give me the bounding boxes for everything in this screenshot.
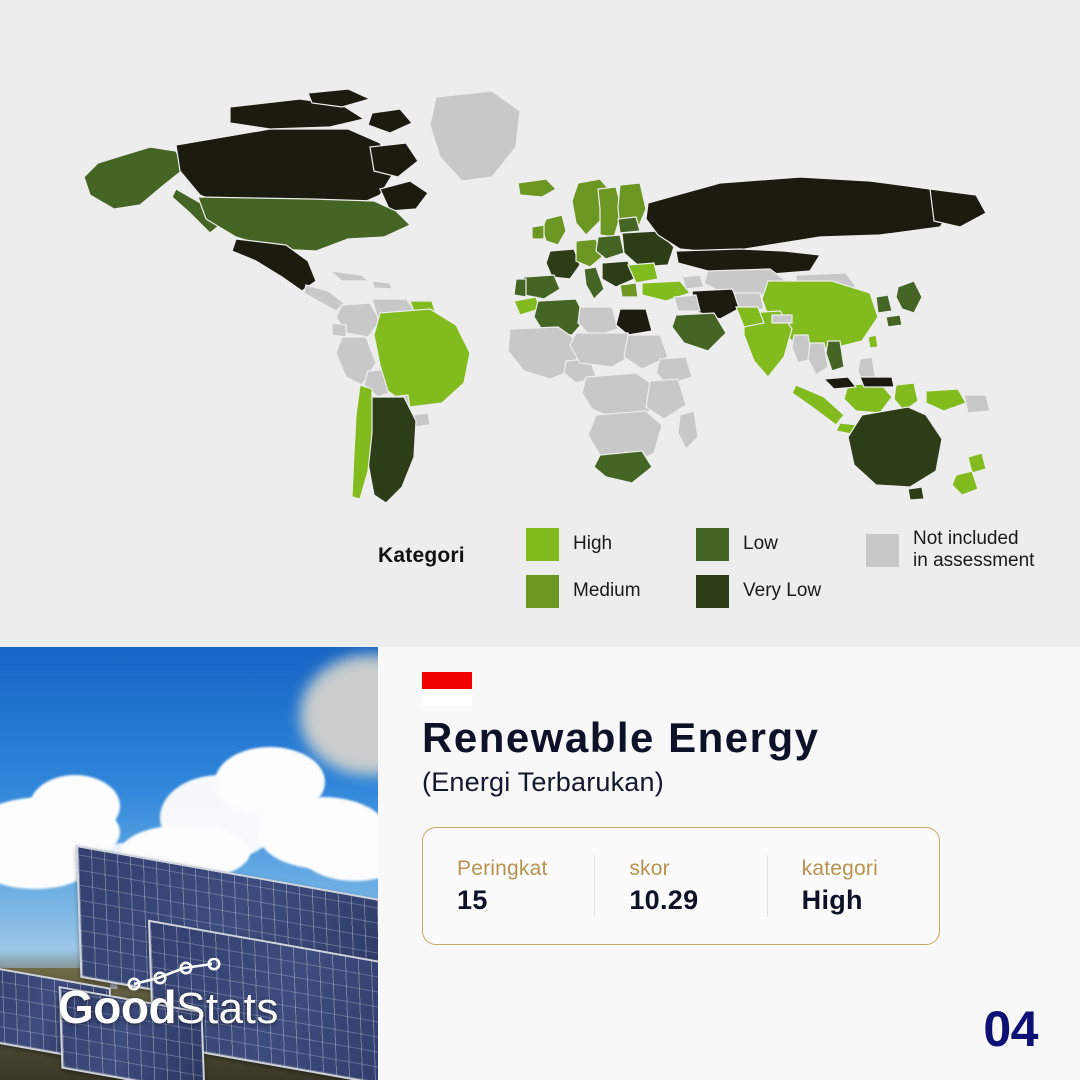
country-papua-new-guinea bbox=[964, 395, 990, 413]
country-taiwan bbox=[868, 335, 878, 348]
country-japan bbox=[896, 281, 922, 313]
country-greenland bbox=[430, 91, 520, 181]
legend-label-high: High bbox=[573, 533, 612, 555]
country-south-africa bbox=[594, 451, 652, 483]
legend-columns: High Medium Low Very Low bbox=[526, 528, 1066, 608]
country-france bbox=[546, 249, 580, 279]
country-indonesia-sumatra bbox=[792, 385, 844, 425]
legend-swatch-very-low bbox=[696, 575, 729, 608]
country-australia bbox=[848, 407, 942, 487]
stat-value-kategori: High bbox=[802, 885, 939, 916]
legend-swatch-high bbox=[526, 528, 559, 561]
legend-column-3: Not included in assessment bbox=[866, 528, 1066, 573]
country-baltics bbox=[618, 217, 640, 233]
legend-swatch-low bbox=[696, 528, 729, 561]
country-saudi-arabia bbox=[672, 313, 726, 351]
country-hispaniola bbox=[372, 281, 392, 289]
legend-label-medium: Medium bbox=[573, 580, 641, 602]
cloud-haze bbox=[300, 655, 378, 775]
legend-label-not-included-line2: in assessment bbox=[913, 550, 1034, 571]
country-russia bbox=[646, 177, 956, 253]
country-indonesia-papua bbox=[926, 389, 966, 411]
country-malaysia-borneo bbox=[860, 377, 894, 387]
stat-peringkat: Peringkat 15 bbox=[423, 855, 594, 917]
country-alaska bbox=[84, 147, 184, 209]
country-madagascar bbox=[678, 411, 698, 449]
stat-label-skor: skor bbox=[629, 857, 766, 881]
country-new-zealand-s bbox=[952, 471, 978, 495]
legend-item-not-included: Not included in assessment bbox=[866, 528, 1066, 573]
indonesia-flag-icon bbox=[422, 672, 472, 706]
stat-skor: skor 10.29 bbox=[594, 855, 766, 917]
stat-kategori: kategori High bbox=[767, 855, 939, 917]
country-ecuador bbox=[332, 323, 346, 337]
country-greece bbox=[620, 283, 638, 297]
legend-column-2: Low Very Low bbox=[696, 528, 866, 608]
legend-swatch-medium bbox=[526, 575, 559, 608]
country-argentina bbox=[366, 397, 416, 503]
legend-column-1: High Medium bbox=[526, 528, 696, 608]
country-canada-lab bbox=[370, 143, 418, 177]
country-canada-isl1 bbox=[308, 89, 370, 107]
country-cuba bbox=[330, 271, 368, 281]
legend-label-very-low: Very Low bbox=[743, 580, 821, 602]
country-russia-east bbox=[930, 189, 986, 227]
page-title: Renewable Energy bbox=[422, 714, 819, 762]
legend-label-not-included: Not included in assessment bbox=[913, 528, 1034, 573]
legend-item-very-low: Very Low bbox=[696, 575, 866, 608]
country-caucasus bbox=[682, 275, 704, 289]
country-malaysia bbox=[824, 377, 856, 389]
country-thailand bbox=[808, 343, 828, 375]
page-number: 04 bbox=[983, 1000, 1038, 1058]
country-egypt bbox=[616, 309, 652, 335]
stats-box: Peringkat 15 skor 10.29 kategori High bbox=[422, 827, 940, 945]
stat-value-skor: 10.29 bbox=[629, 885, 766, 916]
legend-item-medium: Medium bbox=[526, 575, 696, 608]
country-canada-isl2 bbox=[368, 109, 412, 133]
world-map-svg bbox=[80, 85, 1000, 505]
sparkline-icon bbox=[126, 958, 236, 992]
country-italy bbox=[584, 267, 604, 299]
country-korea bbox=[876, 295, 892, 313]
page-subtitle: (Energi Terbarukan) bbox=[422, 767, 664, 798]
legend-label-low: Low bbox=[743, 533, 778, 555]
country-tasmania bbox=[908, 487, 924, 500]
country-ireland bbox=[532, 225, 544, 239]
country-iceland bbox=[518, 179, 556, 197]
country-chile bbox=[352, 385, 372, 499]
country-japan-south bbox=[886, 315, 902, 327]
country-united-states bbox=[198, 197, 410, 251]
world-map bbox=[0, 0, 1080, 540]
legend-swatch-not-included bbox=[866, 534, 899, 567]
country-pakistan bbox=[736, 307, 764, 327]
legend-item-high: High bbox=[526, 528, 696, 561]
stat-label-peringkat: Peringkat bbox=[457, 857, 594, 881]
map-legend: Kategori High Medium Low bbox=[378, 528, 1066, 608]
country-east-africa bbox=[646, 379, 686, 419]
country-new-zealand-n bbox=[968, 453, 986, 473]
card-content: Renewable Energy (Energi Terbarukan) Per… bbox=[378, 647, 1080, 1080]
legend-title: Kategori bbox=[378, 544, 526, 568]
stat-value-peringkat: 15 bbox=[457, 885, 594, 916]
country-central-america bbox=[304, 285, 344, 311]
infographic-page: Kategori High Medium Low bbox=[0, 0, 1080, 1080]
country-nepal bbox=[772, 315, 792, 323]
legend-label-not-included-line1: Not included bbox=[913, 528, 1019, 549]
legend-item-low: Low bbox=[696, 528, 866, 561]
country-iraq-syria bbox=[674, 295, 700, 311]
map-countries bbox=[84, 89, 990, 503]
country-united-kingdom bbox=[542, 215, 566, 245]
stat-label-kategori: kategori bbox=[802, 857, 939, 881]
goodstats-logo: Good Stats bbox=[58, 980, 279, 1034]
country-portugal bbox=[514, 279, 526, 297]
map-panel: Kategori High Medium Low bbox=[0, 0, 1080, 647]
